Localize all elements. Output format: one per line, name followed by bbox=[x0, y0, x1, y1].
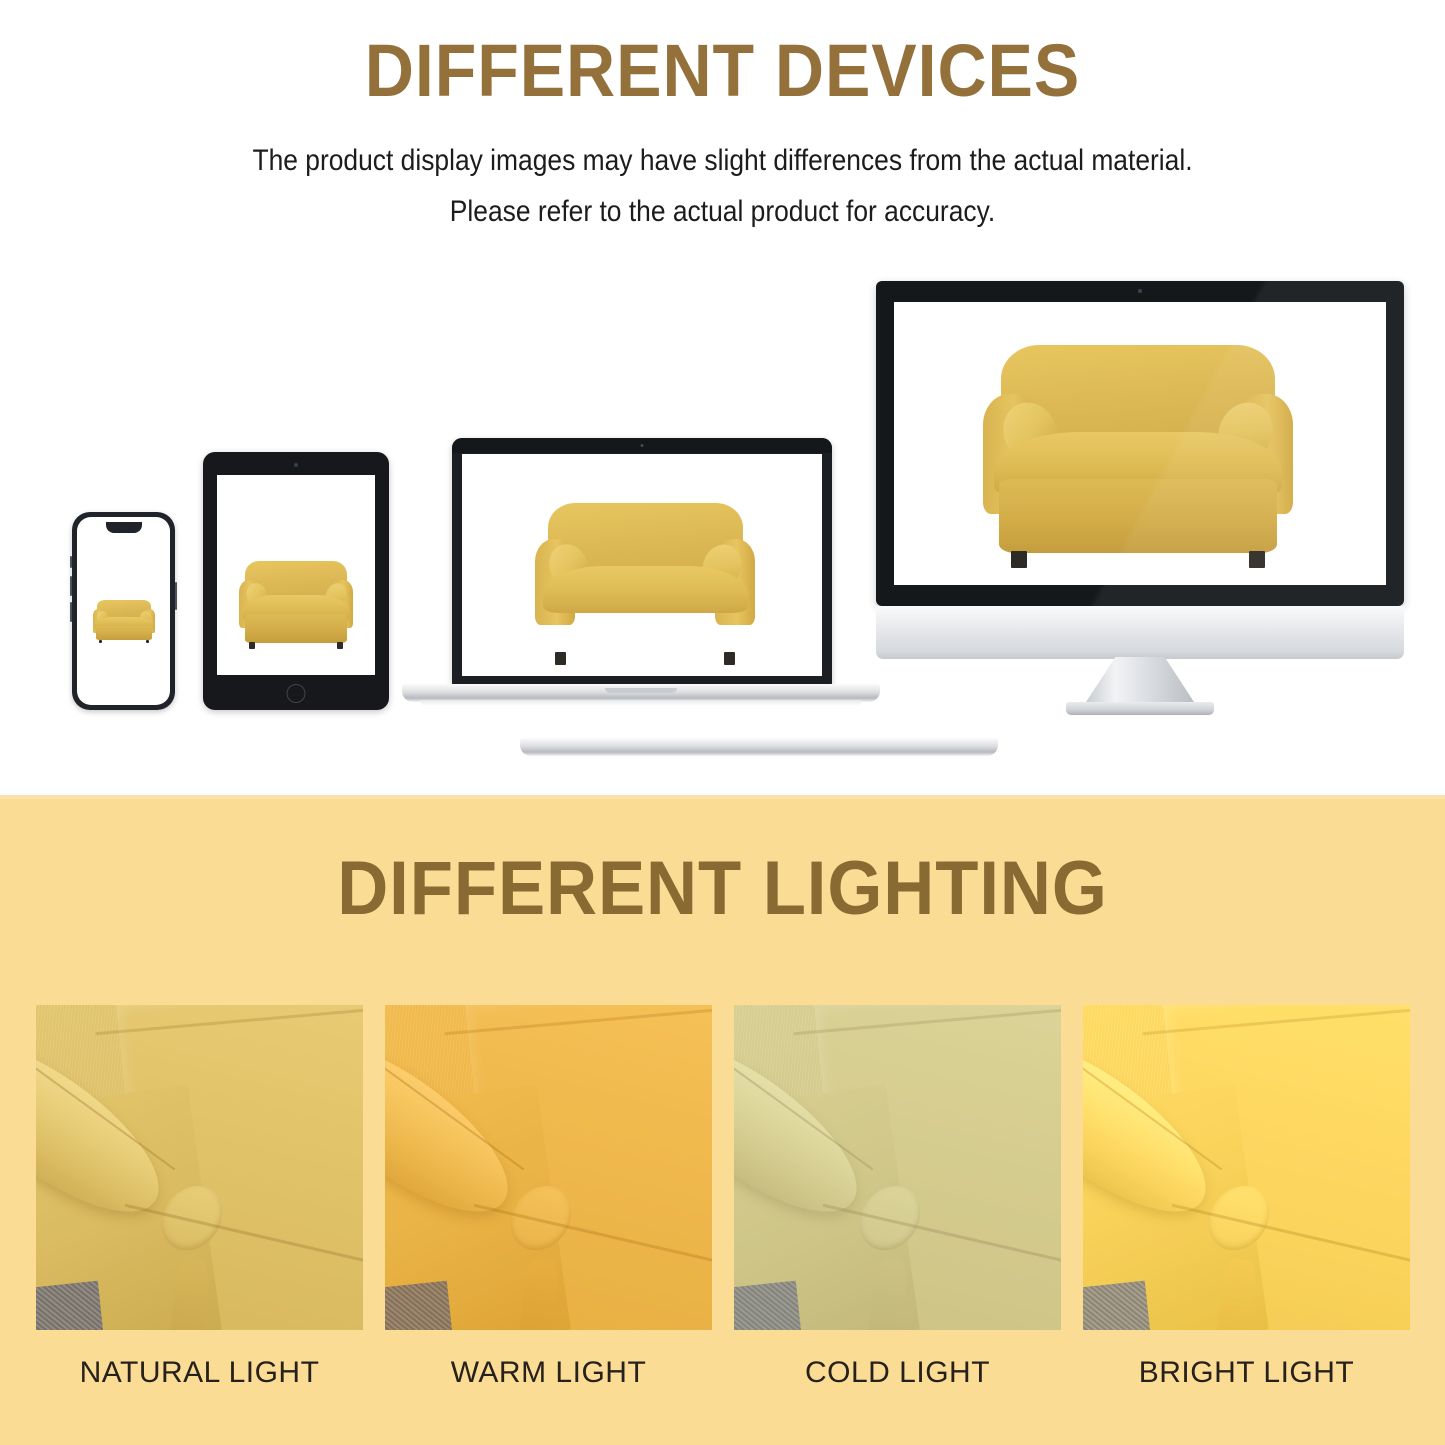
rug-corner bbox=[36, 1280, 104, 1330]
sofa-leg-left bbox=[99, 640, 102, 643]
fabric-closeup-bright bbox=[1083, 1005, 1410, 1330]
section-divider bbox=[0, 795, 1445, 799]
sofa-base bbox=[520, 738, 998, 756]
laptop-lid bbox=[452, 438, 832, 686]
laptop-product-image bbox=[520, 492, 770, 672]
lighting-swatch-warm: WARM LIGHT bbox=[385, 1005, 712, 1390]
different-devices-section: DIFFERENT DEVICES The product display im… bbox=[0, 0, 1445, 795]
monitor-stand-base bbox=[1066, 702, 1214, 715]
fabric-closeup-cold bbox=[734, 1005, 1061, 1330]
phone-product-image bbox=[89, 597, 159, 645]
sofa-leg-left bbox=[249, 642, 255, 649]
monitor-chin bbox=[876, 606, 1404, 659]
devices-subtitle-line-2: Please refer to the actual product for a… bbox=[87, 195, 1359, 229]
lighting-swatch-cold: COLD LIGHT bbox=[734, 1005, 1061, 1390]
laptop-webcam-icon bbox=[641, 444, 644, 447]
phone-mute-switch bbox=[70, 556, 72, 568]
fabric-closeup-warm bbox=[385, 1005, 712, 1330]
tablet-product-image bbox=[231, 555, 361, 653]
sofa-leg-right bbox=[1249, 551, 1265, 568]
lighting-label-bright: BRIGHT LIGHT bbox=[1083, 1356, 1410, 1390]
rug-corner bbox=[734, 1280, 802, 1330]
phone-mockup bbox=[72, 512, 175, 710]
lighting-label-warm: WARM LIGHT bbox=[385, 1356, 712, 1390]
tablet-screen bbox=[217, 475, 375, 675]
sofa-leg-right bbox=[337, 642, 343, 649]
different-lighting-section: DIFFERENT LIGHTING NATURAL LIGHT bbox=[0, 795, 1445, 1445]
sofa-base bbox=[96, 626, 151, 640]
lighting-label-cold: COLD LIGHT bbox=[734, 1356, 1061, 1390]
phone-volume-up-button bbox=[70, 576, 72, 596]
lighting-swatch-natural: NATURAL LIGHT bbox=[36, 1005, 363, 1390]
phone-notch bbox=[106, 522, 142, 533]
laptop-mockup bbox=[402, 438, 880, 710]
sofa-illustration bbox=[962, 330, 1314, 578]
monitor-bezel bbox=[876, 281, 1404, 606]
fabric-closeup-natural bbox=[36, 1005, 363, 1330]
laptop-foot bbox=[420, 700, 862, 706]
monitor-product-image bbox=[962, 330, 1314, 578]
phone-volume-down-button bbox=[70, 602, 72, 622]
laptop-screen bbox=[462, 454, 822, 676]
lighting-label-natural: NATURAL LIGHT bbox=[36, 1356, 363, 1390]
phone-screen bbox=[77, 517, 170, 705]
sofa-illustration bbox=[520, 492, 770, 672]
lighting-swatch-row: NATURAL LIGHT WARM LIGHT bbox=[36, 1005, 1410, 1390]
sofa-leg-left bbox=[1011, 551, 1027, 568]
sofa-leg-left bbox=[555, 652, 566, 665]
rug-corner bbox=[1083, 1280, 1151, 1330]
lighting-heading: DIFFERENT LIGHTING bbox=[51, 845, 1395, 932]
phone-power-button bbox=[175, 582, 177, 610]
sofa-leg-right bbox=[146, 640, 149, 643]
lighting-swatch-bright: BRIGHT LIGHT bbox=[1083, 1005, 1410, 1390]
laptop-lid-notch bbox=[605, 688, 677, 693]
devices-subtitle-line-1: The product display images may have slig… bbox=[87, 144, 1359, 178]
sofa-base bbox=[999, 479, 1277, 553]
tablet-front-camera-icon bbox=[294, 463, 298, 467]
monitor-mockup bbox=[876, 281, 1404, 716]
sofa-illustration bbox=[231, 555, 361, 653]
rug-corner bbox=[385, 1280, 453, 1330]
devices-heading: DIFFERENT DEVICES bbox=[58, 28, 1387, 113]
monitor-screen bbox=[894, 302, 1386, 585]
tablet-mockup bbox=[203, 452, 389, 710]
sofa-base bbox=[245, 614, 348, 643]
monitor-webcam-icon bbox=[1138, 289, 1142, 293]
sofa-seat-cushion bbox=[543, 566, 748, 613]
monitor-stand-neck bbox=[1084, 657, 1196, 705]
sofa-illustration bbox=[89, 597, 159, 645]
tablet-home-button-icon bbox=[287, 684, 306, 703]
sofa-leg-right bbox=[724, 652, 735, 665]
